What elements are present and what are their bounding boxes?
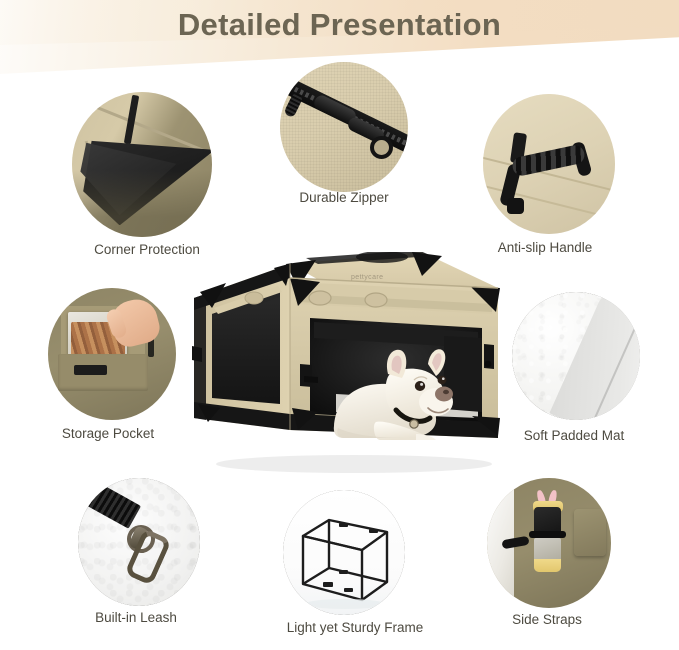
anti-slip-handle-image: [483, 94, 615, 234]
caption-corner-protection: Corner Protection: [94, 242, 200, 257]
soft-padded-mat-image: [512, 292, 640, 420]
water-bottle-icon: [534, 507, 561, 533]
feature-corner-protection: Corner Protection: [72, 92, 222, 252]
caption-soft-padded-mat: Soft Padded Mat: [524, 428, 625, 443]
storage-pocket-image: [48, 288, 176, 420]
brand-logo: pettycare: [351, 274, 383, 281]
product-image-pet-crate: pettycare: [186, 252, 506, 474]
feature-durable-zipper: Durable Zipper: [280, 62, 420, 212]
steel-frame-icon: [283, 490, 405, 615]
feature-light-yet-sturdy-frame: Light yet Sturdy Frame: [283, 490, 443, 648]
pocket-handle-slot-icon: [74, 365, 107, 376]
caption-durable-zipper: Durable Zipper: [299, 190, 388, 205]
feature-storage-pocket: Storage Pocket: [48, 288, 198, 446]
page-title: Detailed Presentation: [0, 7, 679, 43]
caption-built-in-leash: Built-in Leash: [95, 610, 177, 625]
built-in-leash-image: [78, 478, 200, 606]
side-straps-image: [487, 478, 611, 608]
feature-built-in-leash: Built-in Leash: [78, 478, 228, 636]
side-pocket-flap-icon: [574, 509, 606, 556]
caption-anti-slip-handle: Anti-slip Handle: [498, 240, 593, 255]
feature-anti-slip-handle: Anti-slip Handle: [483, 94, 633, 252]
caption-light-yet-sturdy-frame: Light yet Sturdy Frame: [287, 620, 424, 635]
corner-protection-image: [72, 92, 212, 237]
caption-side-straps: Side Straps: [512, 612, 582, 627]
feature-soft-padded-mat: Soft Padded Mat: [512, 292, 662, 450]
frame-image: [283, 490, 405, 615]
durable-zipper-image: [280, 62, 408, 192]
dog-illustration: [330, 330, 470, 450]
feature-side-straps: Side Straps: [487, 478, 637, 636]
caption-storage-pocket: Storage Pocket: [62, 426, 154, 441]
infographic-page: Detailed Presentation Corner Protection …: [0, 0, 679, 650]
